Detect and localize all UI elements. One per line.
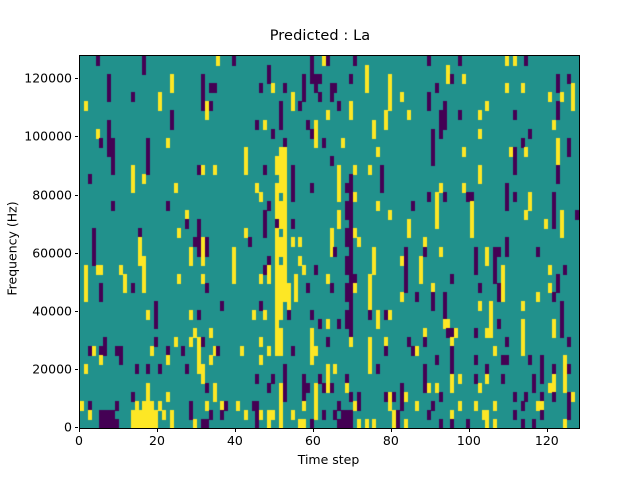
x-tick-label: 100: [457, 433, 481, 448]
matplotlib-figure: Predicted : La 020406080100120 020000400…: [0, 0, 640, 480]
heatmap-axes: [79, 55, 580, 429]
x-tick-mark: [313, 428, 314, 432]
x-axis-label: Time step: [79, 452, 578, 467]
y-tick-mark: [75, 253, 79, 254]
y-tick-mark: [75, 78, 79, 79]
x-tick-label: 60: [305, 433, 321, 448]
x-tick-mark: [157, 428, 158, 432]
y-tick-label: 20000: [0, 361, 72, 376]
x-tick-mark: [235, 428, 236, 432]
chart-title: Predicted : La: [0, 28, 640, 44]
x-tick-mark: [391, 428, 392, 432]
x-tick-label: 0: [75, 433, 83, 448]
x-tick-mark: [547, 428, 548, 432]
x-tick-label: 120: [535, 433, 559, 448]
x-tick-label: 40: [227, 433, 243, 448]
y-tick-mark: [75, 427, 79, 428]
x-tick-label: 80: [383, 433, 399, 448]
x-tick-mark: [79, 428, 80, 432]
y-tick-mark: [75, 195, 79, 196]
heatmap-canvas: [80, 56, 579, 428]
y-tick-mark: [75, 311, 79, 312]
y-tick-label: 120000: [0, 71, 72, 86]
x-tick-label: 20: [149, 433, 165, 448]
x-tick-mark: [469, 428, 470, 432]
y-tick-label: 0: [0, 420, 72, 435]
y-axis-label: Frequency (Hz): [5, 149, 20, 349]
y-tick-mark: [75, 136, 79, 137]
y-tick-label: 100000: [0, 129, 72, 144]
y-tick-mark: [75, 369, 79, 370]
